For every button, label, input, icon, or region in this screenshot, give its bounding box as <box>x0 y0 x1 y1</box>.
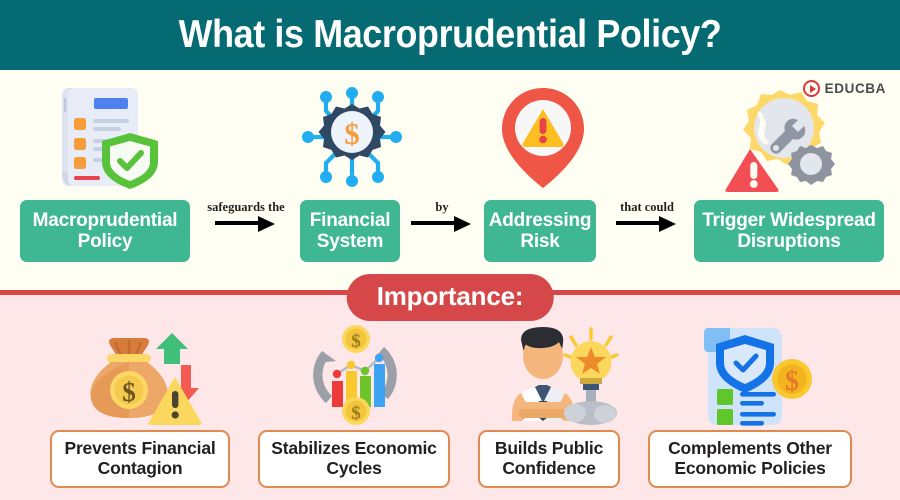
flow-step-label: Trigger Widespread Disruptions <box>700 210 878 253</box>
document-shield-coin-icon: $ <box>688 325 818 425</box>
arrow-right-icon <box>616 218 678 228</box>
importance-item-complements-other-economic-policies[interactable]: Complements Other Economic Policies <box>648 430 852 488</box>
money-bag-arrows-warning-icon: $ <box>75 325 205 425</box>
connector-label: safeguards the <box>207 201 284 215</box>
flow-step-trigger-widespread-disruptions[interactable]: Trigger Widespread Disruptions <box>694 200 884 262</box>
svg-text:$: $ <box>351 403 361 424</box>
importance-item-label: Complements Other Economic Policies <box>656 439 844 478</box>
importance-item-stabilizes-economic-cycles[interactable]: Stabilizes Economic Cycles <box>258 430 450 488</box>
infographic-page: What is Macroprudential Policy? EDUCBA <box>0 0 900 500</box>
importance-label-row: Prevents Financial Contagion Stabilizes … <box>0 430 900 488</box>
connector-label: by <box>435 201 448 215</box>
svg-text:$: $ <box>351 331 361 352</box>
flow-icon-row: $ <box>0 78 900 196</box>
flow-connector-by: by <box>404 200 480 262</box>
flow-connector-safeguards-the: safeguards the <box>196 200 296 262</box>
location-pin-warning-icon <box>478 78 608 196</box>
header-banner: What is Macroprudential Policy? <box>0 0 900 70</box>
person-lightbulb-rocket-icon <box>490 325 620 425</box>
network-gear-dollar-icon: $ <box>287 78 417 196</box>
importance-item-prevents-financial-contagion[interactable]: Prevents Financial Contagion <box>50 430 230 488</box>
flow-step-macroprudential-policy[interactable]: Macroprudential Policy <box>20 200 190 262</box>
importance-item-builds-public-confidence[interactable]: Builds Public Confidence <box>478 430 620 488</box>
importance-item-label: Stabilizes Economic Cycles <box>266 439 442 478</box>
svg-text:$: $ <box>785 366 799 397</box>
flow-connector-that-could: that could <box>602 200 692 262</box>
broken-gear-wrench-warning-icon <box>717 78 847 196</box>
flow-step-label: Addressing Risk <box>489 210 592 253</box>
svg-text:$: $ <box>344 116 360 151</box>
connector-label: that could <box>620 201 674 215</box>
flow-step-label: Financial System <box>306 210 394 253</box>
flow-step-label: Macroprudential Policy <box>26 210 184 253</box>
flow-step-row: Macroprudential Policy safeguards the Fi… <box>0 200 900 262</box>
page-title: What is Macroprudential Policy? <box>179 13 722 57</box>
document-shield-icon <box>40 78 170 196</box>
arrow-right-icon <box>215 218 277 228</box>
importance-heading: Importance: <box>347 274 554 321</box>
importance-item-label: Prevents Financial Contagion <box>58 439 222 478</box>
flow-step-addressing-risk[interactable]: Addressing Risk <box>484 200 596 262</box>
importance-item-label: Builds Public Confidence <box>486 439 612 478</box>
svg-text:$: $ <box>122 377 136 407</box>
importance-icon-row: $ <box>0 325 900 425</box>
cycle-bar-chart-coins-icon: $ $ <box>290 325 420 425</box>
flow-step-financial-system[interactable]: Financial System <box>300 200 400 262</box>
arrow-right-icon <box>411 218 473 228</box>
